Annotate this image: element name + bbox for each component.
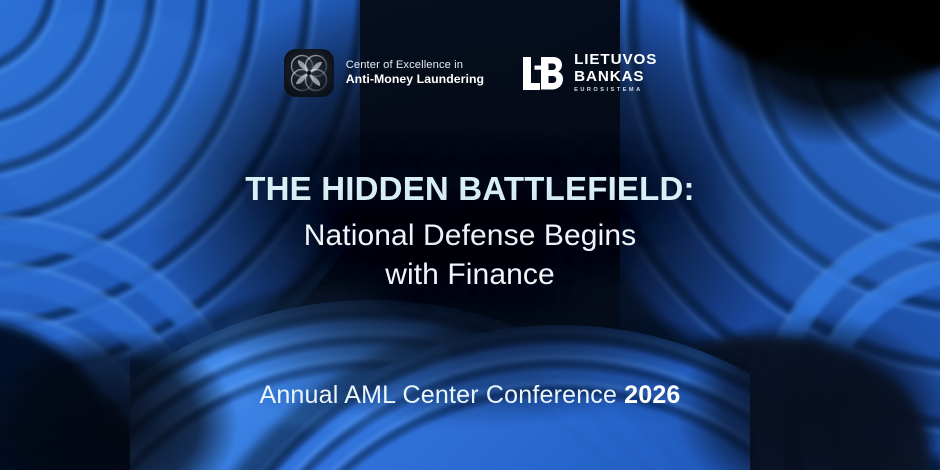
lb-logo-line3: EUROSISTEMA [574,88,657,94]
headline-subtitle-line1: National Defense Begins [0,216,940,255]
coe-logo-line2: Anti-Money Laundering [346,72,484,88]
event-name: Annual AML Center Conference [259,381,617,409]
logo-center-of-excellence: Center of Excellence in Anti-Money Laund… [283,48,484,98]
lb-logo-line2: BANKAS [574,69,657,85]
lb-monogram-icon [520,53,564,93]
logo-lietuvos-bankas: LIETUVOS BANKAS EUROSISTEMA [520,52,657,93]
conference-banner: Center of Excellence in Anti-Money Laund… [0,0,940,470]
event-footer: Annual AML Center Conference2026 [0,381,940,410]
headline-block: THE HIDDEN BATTLEFIELD: National Defense… [0,170,940,294]
logo-row: Center of Excellence in Anti-Money Laund… [0,48,940,98]
lb-logo-text: LIETUVOS BANKAS EUROSISTEMA [574,52,657,93]
four-petal-flower-emblem-icon [283,48,335,98]
coe-logo-text: Center of Excellence in Anti-Money Laund… [346,58,484,88]
headline-title: THE HIDDEN BATTLEFIELD: [0,170,940,209]
coe-logo-line1: Center of Excellence in [346,58,484,72]
lb-logo-line1: LIETUVOS [574,52,657,68]
event-year: 2026 [624,381,680,409]
headline-subtitle-line2: with Finance [0,255,940,294]
